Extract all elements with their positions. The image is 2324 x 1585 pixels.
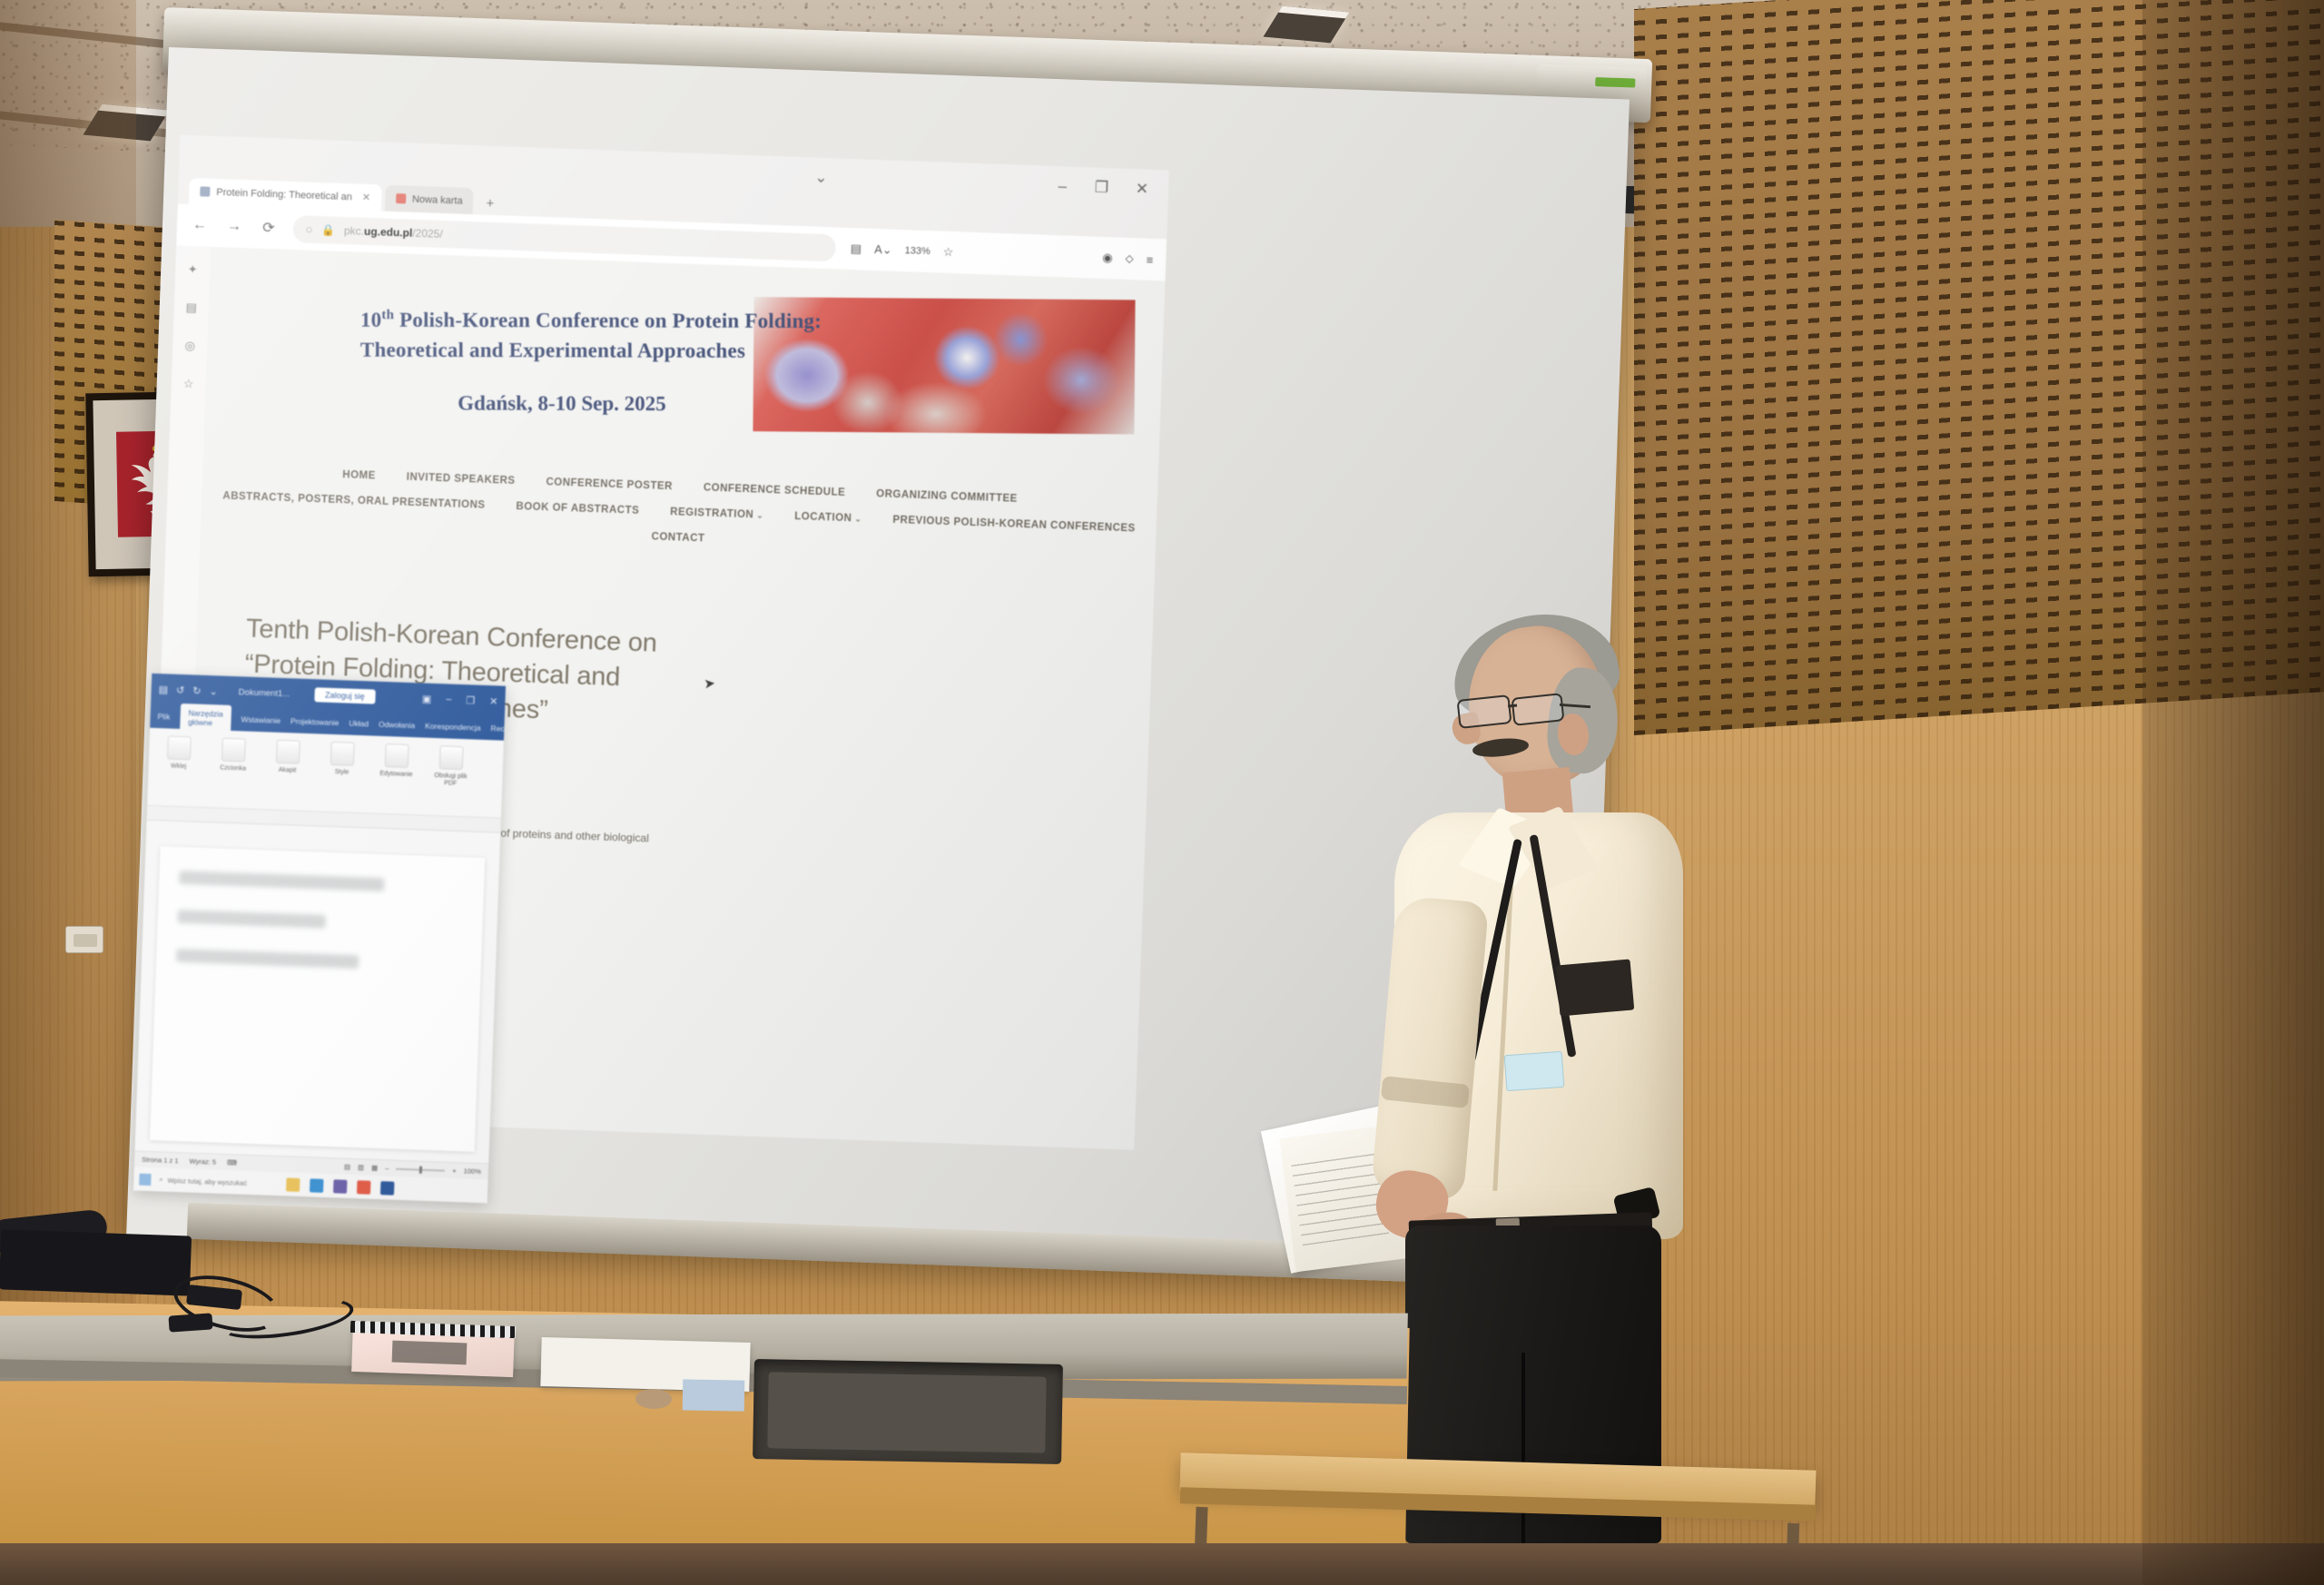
lock-icon: 🔒 <box>321 223 335 237</box>
file-explorer-icon[interactable] <box>286 1177 300 1192</box>
ribbon-group-pdf[interactable]: Obsługi plik PDF <box>428 745 472 810</box>
blue-card-on-desk <box>683 1379 745 1411</box>
eyeglasses-left-lens <box>1456 694 1512 729</box>
undo-icon[interactable]: ↺ <box>176 684 185 695</box>
styles-icon[interactable] <box>330 742 355 766</box>
restore-button[interactable]: ❐ <box>1095 179 1109 198</box>
right-wall-shadow <box>2142 0 2324 1585</box>
customize-qat-caret-icon[interactable]: ⌄ <box>209 685 218 697</box>
ribbon-group-label: Edytowanie <box>379 771 412 779</box>
save-icon[interactable]: ▤ <box>158 684 168 695</box>
word-close-button[interactable]: ✕ <box>489 695 498 707</box>
search-placeholder: Wpisz tutaj, aby wyszukać <box>167 1176 247 1186</box>
banner-ordinal-suffix: th <box>381 308 394 322</box>
paste-icon[interactable] <box>167 735 192 760</box>
document-text-line <box>179 871 384 891</box>
name-badge <box>1504 1051 1565 1091</box>
word-document-name: Dokument1... <box>239 687 290 699</box>
favorite-star-icon[interactable]: ☆ <box>942 245 953 260</box>
taskbar-search[interactable]: ⌕ Wpisz tutaj, aby wyszukać <box>159 1175 247 1186</box>
reload-icon[interactable]: ⟳ <box>259 219 280 238</box>
collections-icon[interactable]: ⬦ <box>1125 251 1134 266</box>
nav-item-invited-speakers[interactable]: INVITED SPEAKERS <box>407 472 516 487</box>
ribbon-tab-home[interactable]: Narzędzia główne <box>180 704 231 733</box>
ribbon-group-label: Wklej <box>171 763 186 772</box>
word-language-icon[interactable]: ⌨ <box>227 1158 237 1167</box>
nav-item-home[interactable]: HOME <box>342 469 376 481</box>
tracking-shield-icon[interactable]: ◌ <box>306 223 313 236</box>
nav-item-abstracts-posters-oral[interactable]: ABSTRACTS, POSTERS, ORAL PRESENTATIONS <box>222 490 486 510</box>
tab-close-icon[interactable]: ✕ <box>362 192 371 203</box>
taskbar-app-icons <box>286 1177 394 1195</box>
word-word-count: Wyraz: 5 <box>189 1157 216 1167</box>
nav-item-location[interactable]: LOCATION⌄ <box>794 511 862 525</box>
tab-title: Nowa karta <box>412 193 463 206</box>
ribbon-tab-layout[interactable]: Układ <box>349 719 369 729</box>
word-help-icon[interactable]: ▣ <box>422 693 432 704</box>
back-icon[interactable]: ← <box>190 217 211 234</box>
browser-tab-newtab[interactable]: Nowa karta <box>385 185 475 214</box>
close-button[interactable]: ✕ <box>1135 180 1148 198</box>
forward-icon[interactable]: → <box>224 218 245 235</box>
lecture-hall-photo: ⌄ – ❐ ✕ Protein Folding: Theoretical an … <box>0 0 2324 1585</box>
edge-icon[interactable] <box>310 1178 324 1193</box>
ribbon-tab-insert[interactable]: Wstawianie <box>241 714 281 725</box>
nav-item-conference-poster[interactable]: CONFERENCE POSTER <box>546 477 673 492</box>
av-control-box <box>0 1229 192 1295</box>
favorites-icon[interactable]: ☆ <box>183 377 194 391</box>
settings-menu-icon[interactable]: ≡ <box>1146 252 1153 266</box>
zoom-slider[interactable] <box>396 1167 445 1171</box>
url-suffix: /2025/ <box>412 227 443 241</box>
paragraph-icon[interactable] <box>276 740 300 764</box>
ribbon-group-label: Czcionka <box>220 765 246 773</box>
roller-indicator-light <box>1595 77 1635 88</box>
ribbon-group-label: Style <box>335 769 350 777</box>
nav-item-registration-label: REGISTRATION <box>670 507 753 520</box>
chevron-down-icon: ⌄ <box>756 510 763 519</box>
word-page-indicator: Strona 1 z 1 <box>142 1156 179 1165</box>
tab-favicon <box>396 193 406 203</box>
banner-title: 10th Polish-Korean Conference on Protein… <box>360 306 851 367</box>
store-icon[interactable] <box>333 1179 348 1194</box>
nav-item-location-label: LOCATION <box>794 511 852 524</box>
profile-icon[interactable]: ◉ <box>1102 251 1113 265</box>
word-view-controls: ▤ ▥ ▦ – + 100% <box>344 1163 481 1176</box>
ribbon-tab-review[interactable]: Recenzja <box>490 724 506 733</box>
font-icon[interactable] <box>222 738 246 763</box>
nav-item-book-of-abstracts[interactable]: BOOK OF ABSTRACTS <box>516 501 639 517</box>
read-aloud-icon[interactable]: A⌄ <box>874 242 892 258</box>
ribbon-group-paragraph[interactable]: Akapit <box>265 739 309 803</box>
banner-date: Gdańsk, 8-10 Sep. 2025 <box>458 391 665 416</box>
word-minimize-button[interactable]: – <box>446 694 452 705</box>
mouse-cursor-icon: ➤ <box>703 674 715 692</box>
toolbar-actions: ▤ A⌄ 133% ☆ ◉ ⬦ ≡ <box>851 241 1154 267</box>
floor <box>0 1543 2324 1585</box>
trouser-leg-seam <box>1521 1353 1525 1543</box>
chevron-down-icon: ⌄ <box>854 514 862 523</box>
chrome-icon[interactable] <box>357 1180 371 1195</box>
nav-item-conference-schedule[interactable]: CONFERENCE SCHEDULE <box>704 482 846 498</box>
ribbon-group-paste[interactable]: Wklej <box>156 735 200 800</box>
print-layout-view-icon[interactable]: ▤ <box>344 1163 350 1171</box>
address-bar-url: pkc.ug.edu.pl/2025/ <box>344 224 443 241</box>
editing-icon[interactable] <box>385 743 409 768</box>
ribbon-tab-design[interactable]: Projektowanie <box>290 716 340 727</box>
collections-icon[interactable]: ◎ <box>184 339 195 353</box>
nav-item-registration[interactable]: REGISTRATION⌄ <box>670 507 763 521</box>
site-banner: 10th Polish-Korean Conference on Protein… <box>249 280 1131 481</box>
pdf-icon[interactable] <box>439 745 464 770</box>
wall-shadow-column <box>0 0 136 1362</box>
tab-title: Protein Folding: Theoretical an <box>216 186 352 202</box>
document-text-line <box>176 949 359 969</box>
ribbon-tab-plik[interactable]: Plik <box>157 712 170 721</box>
zoom-slider-thumb[interactable] <box>419 1166 422 1173</box>
redo-icon[interactable]: ↻ <box>192 684 202 696</box>
banner-title-line2: Theoretical and Experimental Approaches <box>360 338 745 361</box>
ribbon-tab-mailings[interactable]: Korespondencja <box>425 722 481 733</box>
ribbon-group-styles[interactable]: Style <box>320 742 363 806</box>
shirt-pocket-contents <box>1556 960 1635 1017</box>
document-text-line <box>177 910 326 929</box>
web-layout-view-icon[interactable]: ▥ <box>358 1163 364 1171</box>
banner-title-line1: Polish-Korean Conference on Protein Fold… <box>394 309 822 332</box>
word-icon[interactable] <box>380 1181 395 1196</box>
notebook-cover-image <box>392 1341 468 1365</box>
zoom-level-indicator[interactable]: 133% <box>904 245 931 257</box>
ribbon-tab-references[interactable]: Odwołania <box>379 720 416 730</box>
word-document-page[interactable] <box>150 846 485 1152</box>
word-ribbon: Wklej Czcionka Akapit Style Edytowanie O… <box>147 728 504 819</box>
minimize-button[interactable]: – <box>1058 177 1067 195</box>
cable-connector <box>168 1313 212 1332</box>
word-restore-button[interactable]: ❐ <box>466 694 475 706</box>
read-mode-view-icon[interactable]: ▦ <box>371 1164 378 1172</box>
desk-disc-object <box>635 1389 672 1410</box>
ribbon-group-label: Akapit <box>279 767 297 775</box>
banner-ordinal: 10 <box>360 309 381 331</box>
copilot-icon[interactable]: ✦ <box>188 262 198 277</box>
ribbon-group-editing[interactable]: Edytowanie <box>374 743 418 808</box>
new-tab-button[interactable]: + <box>477 195 503 215</box>
tab-favicon <box>200 186 210 196</box>
word-zoom-value[interactable]: 100% <box>464 1167 481 1176</box>
start-button-icon[interactable] <box>139 1173 151 1185</box>
nav-item-organizing-committee[interactable]: ORGANIZING COMMITTEE <box>876 488 1018 505</box>
reader-mode-icon[interactable]: ▤ <box>851 241 862 256</box>
eyeglasses-right-lens <box>1512 693 1565 726</box>
url-prefix: pkc. <box>344 224 365 238</box>
zoom-in-button[interactable]: + <box>452 1167 457 1175</box>
ribbon-group-font[interactable]: Czcionka <box>211 737 254 802</box>
wall-power-socket <box>65 926 103 953</box>
word-window-controls: ▣ – ❐ ✕ <box>422 693 498 707</box>
tab-list-caret-icon[interactable]: ⌄ <box>814 169 828 187</box>
history-icon[interactable]: ▤ <box>185 300 197 315</box>
presenter <box>1389 626 1689 1543</box>
zoom-out-button[interactable]: – <box>385 1164 389 1172</box>
lectern-recess-inner <box>767 1372 1046 1452</box>
ribbon-group-label: Obsługi plik PDF <box>429 773 472 789</box>
nav-item-contact[interactable]: CONTACT <box>651 531 704 544</box>
word-window[interactable]: ▤ ↺ ↻ ⌄ Dokument1... Zaloguj się ▣ – ❐ ✕… <box>133 674 506 1204</box>
url-domain: ug.edu.pl <box>364 225 413 240</box>
word-signin-button[interactable]: Zaloguj się <box>314 687 376 704</box>
search-icon: ⌕ <box>159 1175 163 1184</box>
nav-item-previous-conferences[interactable]: PREVIOUS POLISH-KOREAN CONFERENCES <box>892 515 1136 535</box>
